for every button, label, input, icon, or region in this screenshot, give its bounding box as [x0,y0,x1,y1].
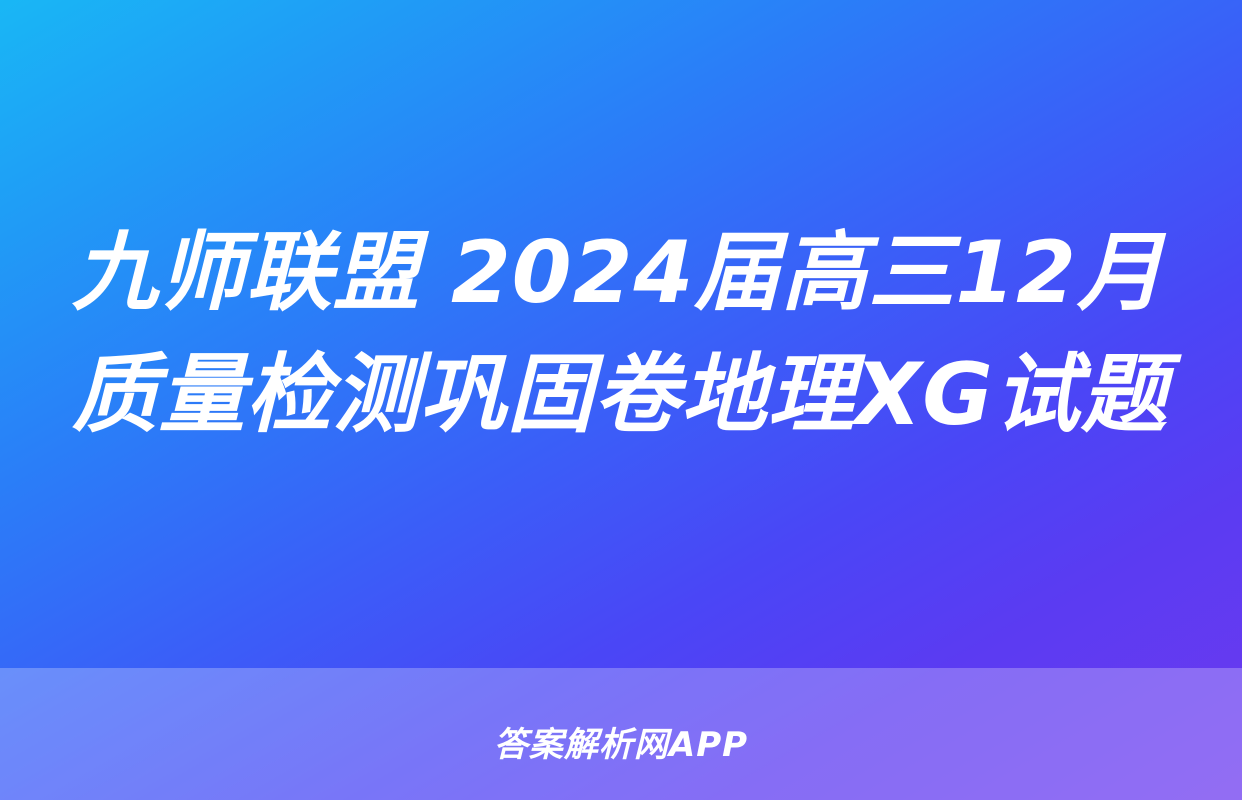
title-container: 九师联盟 2024届高三12月质量检测巩固卷地理XG试题 [0,0,1242,668]
page-title: 九师联盟 2024届高三12月质量检测巩固卷地理XG试题 [72,212,1170,456]
watermark-text: 答案解析网APP [0,717,1242,766]
poster-background: 九师联盟 2024届高三12月质量检测巩固卷地理XG试题 答案解析网APP [0,0,1242,800]
